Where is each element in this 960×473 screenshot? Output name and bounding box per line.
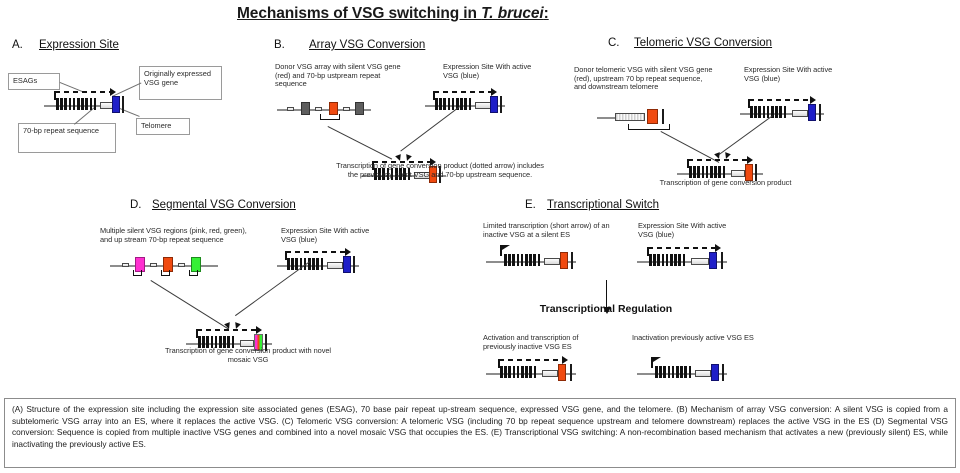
label-vsg-gene: Originally expressed VSG gene — [139, 66, 222, 100]
panel-b-es-caption: Expression Site With active VSG (blue) — [443, 63, 535, 80]
locus-donor-telomeric-c — [597, 100, 679, 126]
locus-inactivated-es-e — [637, 356, 733, 382]
vsg-now-active-red — [558, 364, 566, 381]
panel-c-donor-caption: Donor telomeric VSG with silent VSG gene… — [574, 66, 714, 92]
locus-expression-site-a — [44, 88, 124, 114]
locus-expression-site-d — [277, 248, 365, 274]
panel-e-es-caption: Expression Site With active VSG (blue) — [638, 222, 734, 239]
telomere-mark — [662, 109, 664, 124]
panel-d-letter: D. — [130, 199, 142, 211]
vsg-active-blue — [808, 104, 816, 121]
panel-c-product-caption: Transcription of gene conversion product — [658, 179, 793, 188]
donor-segment-bracket-c — [628, 124, 670, 130]
figure-legend: (A) Structure of the expression site inc… — [4, 398, 956, 468]
locus-expression-site-b — [425, 88, 511, 114]
label-telomere: Telomere — [136, 118, 190, 135]
vsg-silent-grey-2 — [355, 102, 364, 115]
panel-e-activation-caption: Activation and transcription of previous… — [483, 334, 609, 351]
donor-segment-bracket-b — [320, 114, 340, 120]
vsg-now-silent-blue — [711, 364, 719, 381]
locus-expression-site-c — [740, 96, 830, 122]
panel-d-title: Segmental VSG Conversion — [152, 199, 296, 211]
locus-active-es-e — [637, 244, 733, 270]
panel-b-letter: B. — [274, 39, 285, 51]
panel-d-product-caption: Transcription of gene conversion product… — [163, 347, 333, 364]
panel-c-title: Telomeric VSG Conversion — [634, 37, 772, 49]
vsg-active-blue — [112, 96, 120, 113]
panel-e-title: Transcriptional Switch — [547, 199, 659, 211]
panel-d-es-caption: Expression Site With active VSG (blue) — [281, 227, 377, 244]
vsg-active-blue — [343, 256, 351, 273]
panel-e-silent-caption: Limited transcription (short arrow) of a… — [483, 222, 623, 239]
segment-bracket-pink — [133, 270, 142, 276]
panel-a-letter: A. — [12, 39, 23, 51]
vsg-silent-red — [647, 109, 658, 124]
transcriptional-regulation-label: Transcriptional Regulation — [536, 303, 676, 316]
panel-e-letter: E. — [525, 199, 536, 211]
panel-b-product-caption: Transcription of gene conversion product… — [335, 162, 545, 179]
segment-bracket-green — [189, 270, 198, 276]
gene-body-striped — [615, 113, 645, 121]
figure-title: Mechanisms of VSG switching in T. brucei… — [237, 5, 549, 23]
panel-b-donor-caption: Donor VSG array with silent VSG gene (re… — [275, 63, 405, 89]
repeat-array — [56, 98, 96, 110]
panel-c-letter: C. — [608, 37, 620, 49]
segment-bracket-red — [161, 270, 170, 276]
locus-activated-es-e — [486, 356, 582, 382]
recombination-arrow-left-d — [150, 280, 229, 330]
panel-c-es-caption: Expression Site With active VSG (blue) — [744, 66, 840, 83]
telomere-mark — [122, 96, 124, 113]
panel-e-inactivation-caption: Inactivation previously active VSG ES — [632, 334, 772, 343]
panel-b-title: Array VSG Conversion — [309, 39, 425, 51]
vsg-silent-grey — [301, 102, 310, 115]
panel-a-title: Expression Site — [39, 39, 119, 51]
vsg-active-blue — [490, 96, 498, 113]
locus-silent-es-e — [486, 244, 582, 270]
panel-d-donor-caption: Multiple silent VSG regions (pink, red, … — [100, 227, 260, 244]
label-70bp-repeat: 70-bp repeat sequence — [18, 123, 116, 153]
recombination-arrow-right-d — [235, 261, 310, 316]
figure-canvas: Mechanisms of VSG switching in T. brucei… — [0, 0, 960, 473]
recombination-arrow-left-b — [328, 126, 393, 160]
vsg-active-blue — [709, 252, 717, 269]
vsg-inactive-red — [560, 252, 568, 269]
